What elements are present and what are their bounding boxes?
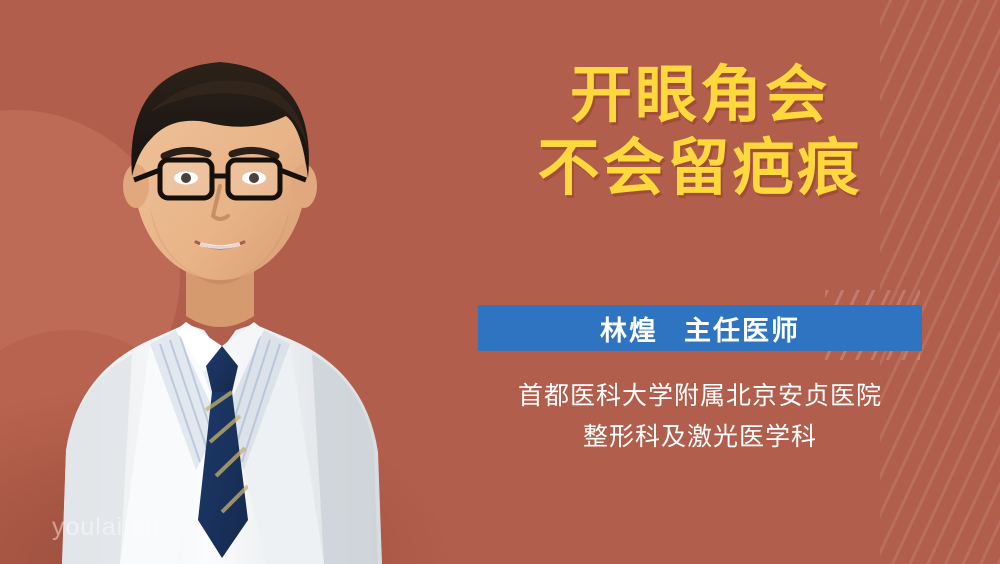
speaker-title: 主任医师 xyxy=(684,309,800,348)
speaker-affiliation: 首都医科大学附属北京安贞医院 整形科及激光医学科 xyxy=(440,375,960,458)
affiliation-line-1: 首都医科大学附属北京安贞医院 xyxy=(440,375,960,416)
speaker-name-band: 林煌 主任医师 xyxy=(478,305,922,351)
site-watermark: youlai.cn xyxy=(52,513,160,542)
headline: 开眼角会 不会留疤痕 xyxy=(440,58,960,204)
doctor-portrait-photo xyxy=(0,0,440,564)
thumbnail-canvas: 开眼角会 不会留疤痕 林煌 主任医师 首都医科大学附属北京安贞医院 整形科及激光… xyxy=(0,0,1000,564)
headline-line-1: 开眼角会 xyxy=(570,58,830,131)
speaker-name: 林煌 xyxy=(600,309,658,348)
affiliation-line-2: 整形科及激光医学科 xyxy=(440,416,960,457)
text-panel: 开眼角会 不会留疤痕 林煌 主任医师 首都医科大学附属北京安贞医院 整形科及激光… xyxy=(440,0,1000,564)
headline-line-2: 不会留疤痕 xyxy=(440,131,960,204)
